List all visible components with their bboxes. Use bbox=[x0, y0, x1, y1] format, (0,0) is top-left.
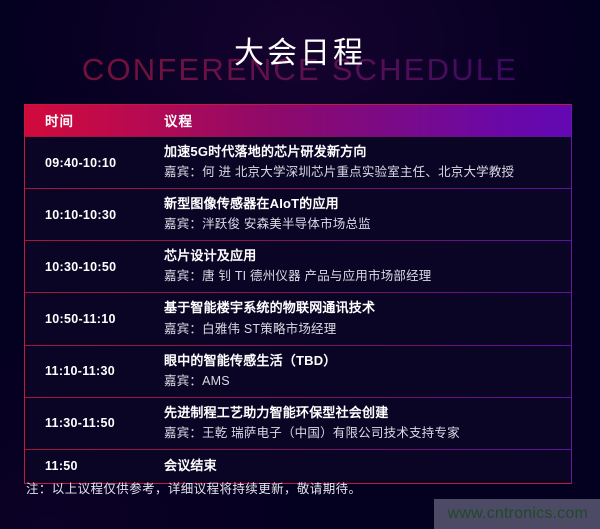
row-agenda-title: 会议结束 bbox=[164, 456, 563, 476]
row-time: 11:10-11:30 bbox=[25, 364, 150, 378]
column-header-agenda-label: 议程 bbox=[164, 114, 193, 129]
row-agenda-title: 眼中的智能传感生活（TBD） bbox=[164, 351, 563, 371]
row-time: 10:50-11:10 bbox=[25, 312, 150, 326]
table-row: 11:30-11:50 先进制程工艺助力智能环保型社会创建 嘉宾：王乾 瑞萨电子… bbox=[25, 397, 571, 449]
row-agenda-title: 基于智能楼宇系统的物联网通讯技术 bbox=[164, 298, 563, 318]
row-agenda: 眼中的智能传感生活（TBD） 嘉宾：AMS bbox=[150, 346, 571, 397]
row-time: 11:50 bbox=[25, 459, 150, 473]
row-agenda: 先进制程工艺助力智能环保型社会创建 嘉宾：王乾 瑞萨电子（中国）有限公司技术支持… bbox=[150, 398, 571, 449]
watermark: www.cntronics.com bbox=[434, 499, 600, 529]
footer-note: 注：以上议程仅供参考，详细议程将持续更新，敬请期待。 bbox=[26, 478, 361, 497]
row-agenda-guest: 嘉宾：AMS bbox=[164, 371, 563, 391]
table-row: 10:30-10:50 芯片设计及应用 嘉宾：唐 钊 TI 德州仪器 产品与应用… bbox=[25, 240, 571, 292]
watermark-url: www.cntronics.com bbox=[448, 505, 588, 523]
table-header-row: 时间 议程 bbox=[25, 105, 571, 136]
row-agenda: 加速5G时代落地的芯片研发新方向 嘉宾：何 进 北京大学深圳芯片重点实验室主任、… bbox=[150, 137, 571, 188]
column-header-agenda: 议程 bbox=[150, 110, 571, 131]
row-agenda-guest: 嘉宾：何 进 北京大学深圳芯片重点实验室主任、北京大学教授 bbox=[164, 162, 563, 182]
row-agenda-title: 先进制程工艺助力智能环保型社会创建 bbox=[164, 403, 563, 423]
row-agenda-guest: 嘉宾：王乾 瑞萨电子（中国）有限公司技术支持专家 bbox=[164, 423, 563, 443]
row-agenda: 芯片设计及应用 嘉宾：唐 钊 TI 德州仪器 产品与应用市场部经理 bbox=[150, 241, 571, 292]
row-agenda-title: 新型图像传感器在AIoT的应用 bbox=[164, 194, 563, 214]
schedule-table: 时间 议程 09:40-10:10 加速5G时代落地的芯片研发新方向 嘉宾：何 … bbox=[24, 104, 572, 484]
row-agenda-guest: 嘉宾：唐 钊 TI 德州仪器 产品与应用市场部经理 bbox=[164, 266, 563, 286]
row-agenda-title: 芯片设计及应用 bbox=[164, 246, 563, 266]
row-time: 10:10-10:30 bbox=[25, 208, 150, 222]
column-header-time: 时间 bbox=[25, 110, 150, 131]
row-agenda: 基于智能楼宇系统的物联网通讯技术 嘉宾：白雅伟 ST策略市场经理 bbox=[150, 293, 571, 344]
page-title: CONFERENCE SCHEDULE 大会日程 bbox=[0, 18, 600, 90]
table-row: 09:40-10:10 加速5G时代落地的芯片研发新方向 嘉宾：何 进 北京大学… bbox=[25, 136, 571, 188]
row-agenda: 会议结束 bbox=[150, 452, 571, 480]
table-row: 10:10-10:30 新型图像传感器在AIoT的应用 嘉宾：泮跃俊 安森美半导… bbox=[25, 188, 571, 240]
row-time: 11:30-11:50 bbox=[25, 416, 150, 430]
row-agenda-title: 加速5G时代落地的芯片研发新方向 bbox=[164, 142, 563, 162]
table-row: 11:10-11:30 眼中的智能传感生活（TBD） 嘉宾：AMS bbox=[25, 345, 571, 397]
row-agenda: 新型图像传感器在AIoT的应用 嘉宾：泮跃俊 安森美半导体市场总监 bbox=[150, 189, 571, 240]
row-agenda-guest: 嘉宾：白雅伟 ST策略市场经理 bbox=[164, 319, 563, 339]
row-time: 10:30-10:50 bbox=[25, 260, 150, 274]
row-time: 09:40-10:10 bbox=[25, 156, 150, 170]
table-row: 10:50-11:10 基于智能楼宇系统的物联网通讯技术 嘉宾：白雅伟 ST策略… bbox=[25, 292, 571, 344]
row-agenda-guest: 嘉宾：泮跃俊 安森美半导体市场总监 bbox=[164, 214, 563, 234]
page-title-chinese: 大会日程 bbox=[0, 28, 600, 72]
column-header-time-label: 时间 bbox=[45, 114, 74, 129]
